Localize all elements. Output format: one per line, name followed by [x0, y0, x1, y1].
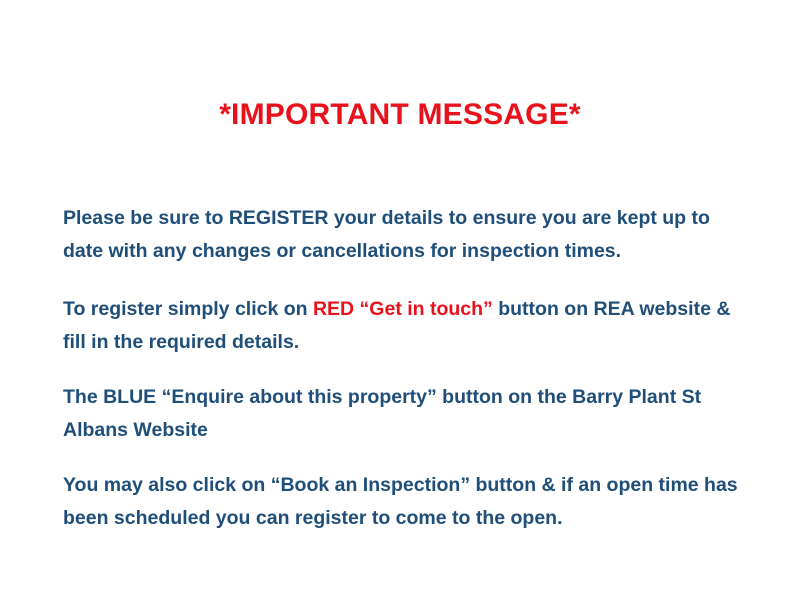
red-get-in-touch-emphasis: RED “Get in touch” [313, 298, 493, 320]
slide-title: *IMPORTANT MESSAGE* [0, 98, 800, 132]
paragraph-book-inspection: You may also click on “Book an Inspectio… [63, 469, 741, 535]
paragraph-red-button-text-before: To register simply click on [63, 298, 313, 320]
slide-body: Please be sure to REGISTER your details … [63, 202, 741, 535]
paragraph-blue-button: The BLUE “Enquire about this property” b… [63, 381, 741, 447]
paragraph-red-button: To register simply click on RED “Get in … [63, 293, 741, 359]
paragraph-register-details: Please be sure to REGISTER your details … [63, 202, 741, 268]
slide-canvas: *IMPORTANT MESSAGE* Please be sure to RE… [0, 0, 800, 600]
